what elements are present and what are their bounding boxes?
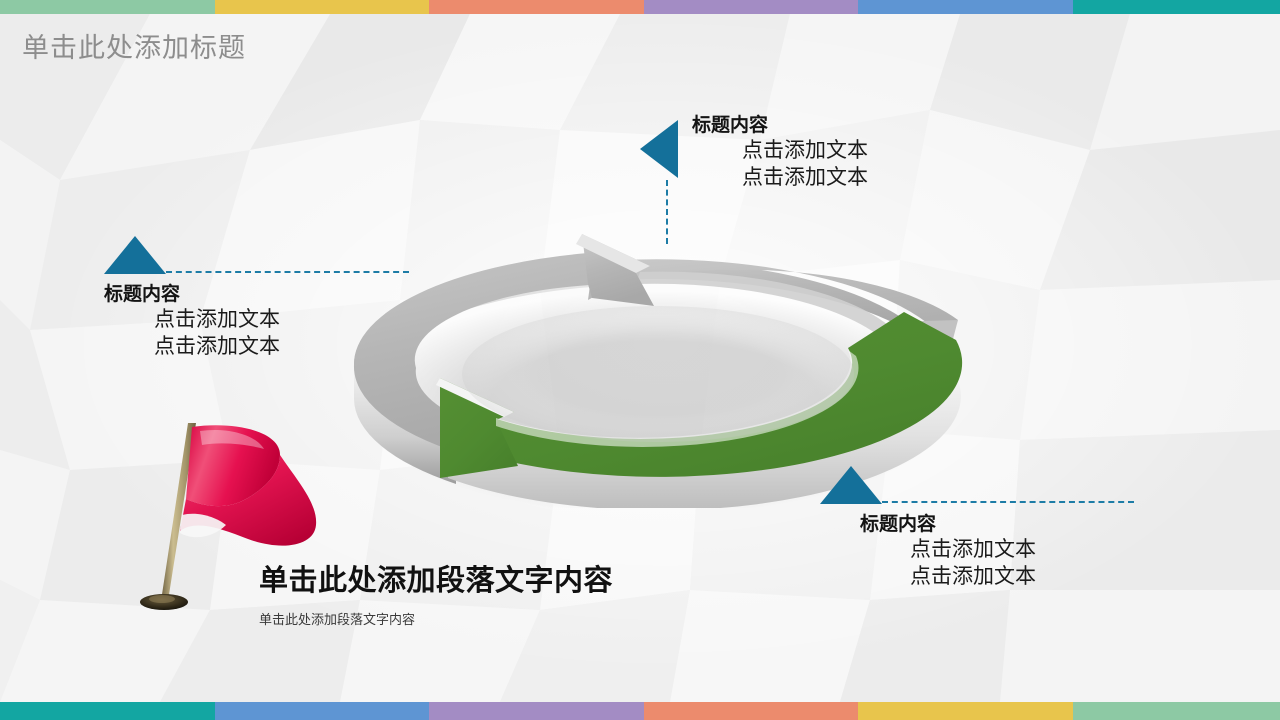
bottom-bar-segment-purple [429, 702, 644, 720]
paragraph-heading[interactable]: 单击此处添加段落文字内容 [259, 557, 613, 599]
top-bar-segment-teal [1073, 0, 1280, 14]
callout-top-right[interactable]: 标题内容 点击添加文本 点击添加文本 [640, 114, 868, 192]
top-color-bar [0, 0, 1280, 14]
bottom-bar-segment-blue [215, 702, 429, 720]
bottom-bar-segment-green [1073, 702, 1280, 720]
callout-top-dashed-connector [666, 180, 668, 244]
callout-left[interactable]: 标题内容 点击添加文本 点击添加文本 [104, 236, 409, 361]
top-bar-segment-orange [429, 0, 644, 14]
page-title[interactable]: 单击此处添加标题 [22, 26, 246, 65]
paragraph-block[interactable]: 单击此处添加段落文字内容 单击此处添加段落文字内容 [259, 557, 613, 628]
callout-bottom-line-1: 点击添加文本 [910, 537, 1134, 564]
top-bar-segment-blue [858, 0, 1073, 14]
callout-top-heading: 标题内容 [692, 114, 868, 138]
callout-bottom-line-2: 点击添加文本 [910, 564, 1134, 591]
paragraph-subtext[interactable]: 单击此处添加段落文字内容 [259, 609, 613, 628]
slide-canvas: 单击此处添加标题 [0, 0, 1280, 720]
triangle-up-icon [820, 466, 882, 504]
triangle-left-icon [640, 120, 678, 178]
bottom-bar-segment-orange [644, 702, 858, 720]
callout-bottom-dashed-connector [882, 501, 1134, 503]
callout-bottom-heading: 标题内容 [860, 513, 1134, 537]
callout-top-line-2: 点击添加文本 [742, 165, 868, 192]
callout-top-line-1: 点击添加文本 [742, 138, 868, 165]
bottom-color-bar [0, 702, 1280, 720]
triangle-up-icon [104, 236, 166, 274]
top-bar-segment-green [0, 0, 215, 14]
bottom-bar-segment-teal [0, 702, 215, 720]
top-bar-segment-yellow [215, 0, 429, 14]
callout-bottom-right[interactable]: 标题内容 点击添加文本 点击添加文本 [820, 466, 1134, 591]
flag-pole-base-highlight [149, 595, 175, 603]
callout-left-line-2: 点击添加文本 [154, 334, 409, 361]
callout-left-line-1: 点击添加文本 [154, 307, 409, 334]
callout-left-dashed-connector [166, 271, 409, 273]
callout-left-heading: 标题内容 [104, 283, 409, 307]
cycle-inner-hole [462, 306, 854, 442]
top-bar-segment-purple [644, 0, 858, 14]
bottom-bar-segment-yellow [858, 702, 1073, 720]
